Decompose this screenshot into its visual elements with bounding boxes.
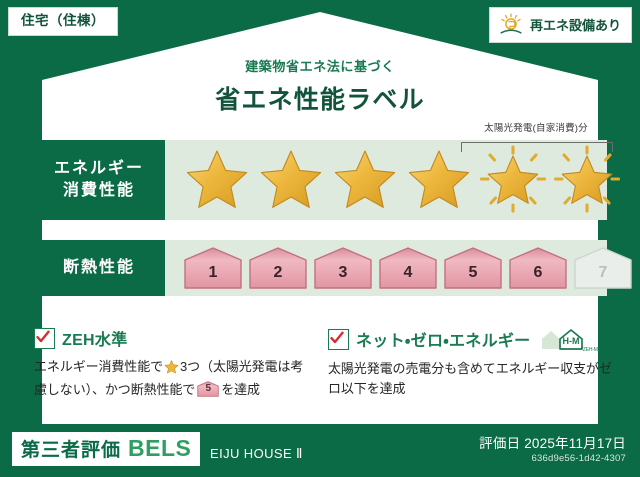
insulation-grade-value: 5 (443, 264, 503, 282)
certificate-id: 636d9e56-1d42-4307 (532, 453, 626, 464)
label-footer: 第三者評価 BELS EIJU HOUSE Ⅱ 評価日 2025年11月17日 … (0, 424, 640, 477)
renewable-tag-label: 再エネ設備あり (530, 19, 621, 32)
achievement-zeh-desc-part1: エネルギー消費性能で (34, 359, 163, 374)
energy-label-line1: エネルギー (54, 158, 144, 180)
energy-performance-label-head: エネルギー 消費性能 (33, 140, 165, 220)
insulation-grade-value: 3 (313, 264, 373, 282)
achievement-zeh-desc-part3: を達成 (221, 382, 260, 397)
insulation-grade-badge-inline: 5 (197, 381, 219, 397)
star-icon-solar-bonus (551, 143, 623, 217)
star-icon (329, 143, 401, 217)
energy-label-line2: 消費性能 (63, 180, 135, 202)
star-rating (165, 143, 623, 217)
insulation-grade-badge: 3 (313, 247, 373, 289)
insulation-grade-area: 1 2 3 4 (165, 240, 633, 296)
insulation-grade-value: 4 (378, 264, 438, 282)
solar-bonus-annotation-label: 太陽光発電(自家消費)分 (457, 120, 615, 134)
star-icon (181, 143, 253, 217)
insulation-performance-row: 断熱性能 1 2 (33, 240, 607, 296)
checkbox-checked-icon (34, 328, 55, 349)
building-type-tag-label: 住宅（住棟） (21, 13, 105, 28)
achievement-zeh-header: ZEH水準 (34, 326, 306, 350)
insulation-grade-value: 2 (248, 264, 308, 282)
insulation-grade-scale: 1 2 3 4 (165, 247, 633, 289)
energy-performance-row: エネルギー 消費性能 太陽光発電(自家消費)分 (33, 140, 607, 220)
label-title-sub: 建築物省エネ法に基づく (0, 56, 640, 75)
insulation-grade-value: 6 (508, 264, 568, 282)
star-icon (403, 143, 475, 217)
solar-bonus-bracket (461, 142, 613, 152)
zeh-m-logo-icon: H-M 「ZEH-M」 (538, 326, 600, 352)
insulation-label: 断熱性能 (63, 257, 135, 279)
energy-performance-stars-area: 太陽光発電(自家消費)分 (165, 140, 623, 220)
renewable-equipment-tag: 再エネ設備あり (489, 7, 632, 43)
insulation-grade-badge: 4 (378, 247, 438, 289)
solar-bonus-annotation: 太陽光発電(自家消費)分 (457, 120, 615, 134)
achievement-net-zero-energy: ネット・ゼロ・エネルギー H-M 「ZEH-M」 太陽光発電の売電分も含めてエネ… (328, 326, 614, 399)
insulation-grade-badge: 1 (183, 247, 243, 289)
insulation-grade-value: 1 (183, 264, 243, 282)
star-icon-inline (164, 362, 179, 377)
bels-jp-label: 第三者評価 (21, 441, 121, 460)
achievement-nze-header: ネット・ゼロ・エネルギー H-M 「ZEH-M」 (328, 326, 614, 352)
zeh-m-logo-caption: 「ZEH-M」 (578, 346, 602, 353)
achievement-zeh-title: ZEH水準 (62, 326, 128, 350)
insulation-grade-badge: 5 (443, 247, 503, 289)
achievement-zeh-description: エネルギー消費性能で3つ（太陽光発電は考慮しない）、かつ断熱性能で5を達成 (34, 357, 306, 400)
project-name: EIJU HOUSE Ⅱ (210, 446, 303, 462)
insulation-grade-badge-inline-value: 5 (197, 381, 219, 397)
achievement-zeh: ZEH水準 エネルギー消費性能で3つ（太陽光発電は考慮しない）、かつ断熱性能で5… (34, 326, 306, 400)
label-title: 建築物省エネ法に基づく 省エネ性能ラベル (0, 56, 640, 116)
achievement-nze-title: ネット・ゼロ・エネルギー (356, 327, 530, 351)
checkbox-checked-icon (328, 329, 349, 350)
sun-icon (498, 13, 524, 37)
energy-performance-label: 住宅（住棟） 再エネ設備あり 建築物省エネ法に基づく 省エネ性能ラベル (0, 0, 640, 477)
insulation-grade-badge-inactive: 7 (573, 247, 633, 289)
evaluation-date: 評価日 2025年11月17日 (479, 432, 626, 452)
star-icon (255, 143, 327, 217)
insulation-performance-label-head: 断熱性能 (33, 240, 165, 296)
star-icon-solar-bonus (477, 143, 549, 217)
bels-en-label: BELS (128, 437, 191, 460)
insulation-grade-badge: 2 (248, 247, 308, 289)
label-title-main: 省エネ性能ラベル (0, 80, 640, 116)
achievement-nze-description: 太陽光発電の売電分も含めてエネルギー収支がゼロ以下を達成 (328, 359, 614, 399)
insulation-grade-value: 7 (573, 264, 633, 282)
bels-certification-mark: 第三者評価 BELS (12, 432, 200, 466)
building-type-tag: 住宅（住棟） (8, 7, 118, 36)
insulation-grade-badge: 6 (508, 247, 568, 289)
zeh-m-logo-text: H-M (563, 336, 580, 346)
